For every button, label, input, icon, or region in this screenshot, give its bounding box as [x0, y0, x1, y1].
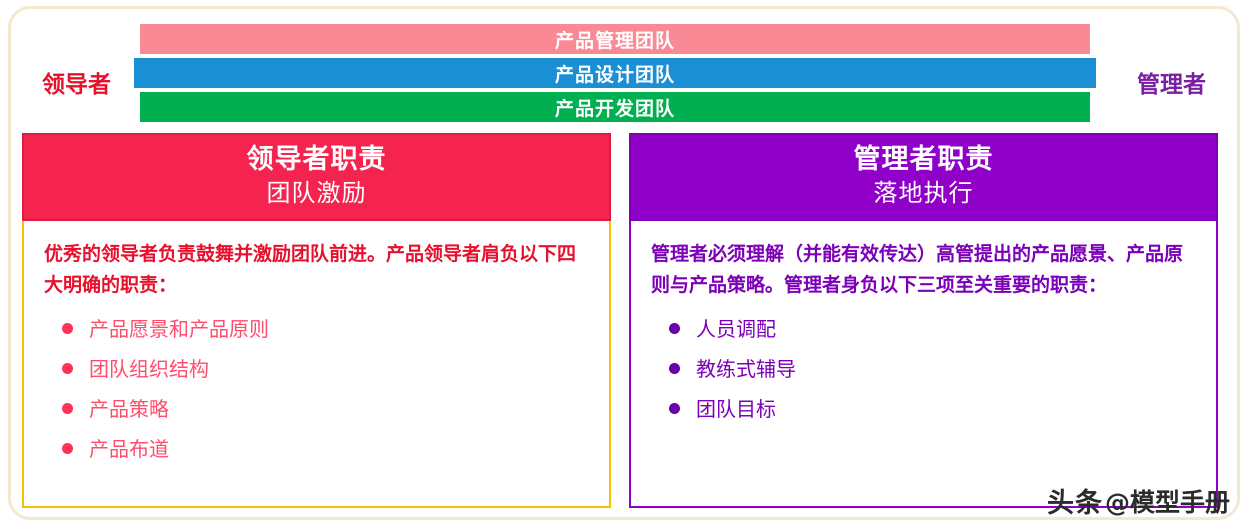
bullet-icon: [669, 403, 680, 414]
list-item-label: 人员调配: [696, 309, 776, 349]
leader-panel-header: 领导者职责 团队激励: [22, 133, 611, 221]
manager-role-label: 管理者: [1137, 73, 1206, 96]
leader-role-label: 领导者: [42, 73, 111, 96]
team-bar-product-management: 产品管理团队: [140, 24, 1090, 54]
bullet-icon: [669, 323, 680, 334]
teams-band: 领导者 管理者 产品管理团队 产品设计团队 产品开发团队: [22, 18, 1212, 130]
list-item: 团队组织结构: [44, 349, 589, 389]
manager-intro-text: 管理者必须理解（并能有效传达）高管提出的产品愿景、产品原则与产品策略。管理者身负…: [651, 239, 1196, 301]
watermark: 头条 @模型手册: [1047, 481, 1230, 520]
leader-panel-body: 优秀的领导者负责鼓舞并激励团队前进。产品领导者肩负以下四大明确的职责： 产品愿景…: [22, 221, 611, 508]
leader-item-list: 产品愿景和产品原则 团队组织结构 产品策略 产品布道: [44, 309, 589, 469]
list-item-label: 团队目标: [696, 389, 776, 429]
leader-responsibility-panel: 领导者职责 团队激励 优秀的领导者负责鼓舞并激励团队前进。产品领导者肩负以下四大…: [22, 133, 611, 508]
manager-panel-subtitle: 落地执行: [631, 177, 1216, 209]
leader-panel-title: 领导者职责: [24, 143, 609, 177]
list-item-label: 产品愿景和产品原则: [89, 309, 269, 349]
list-item: 产品愿景和产品原则: [44, 309, 589, 349]
team-bar-product-development: 产品开发团队: [140, 92, 1090, 122]
responsibility-panels: 领导者职责 团队激励 优秀的领导者负责鼓舞并激励团队前进。产品领导者肩负以下四大…: [22, 133, 1218, 508]
list-item: 团队目标: [651, 389, 1196, 429]
diagram-canvas: 领导者 管理者 产品管理团队 产品设计团队 产品开发团队 领导者职责 团队激励 …: [0, 0, 1248, 528]
bullet-icon: [669, 363, 680, 374]
leader-intro-text: 优秀的领导者负责鼓舞并激励团队前进。产品领导者肩负以下四大明确的职责：: [44, 239, 589, 301]
list-item-label: 团队组织结构: [89, 349, 209, 389]
list-item: 教练式辅导: [651, 349, 1196, 389]
bullet-icon: [62, 323, 73, 334]
list-item-label: 教练式辅导: [696, 349, 796, 389]
list-item: 人员调配: [651, 309, 1196, 349]
list-item: 产品策略: [44, 389, 589, 429]
leader-panel-subtitle: 团队激励: [24, 177, 609, 209]
bullet-icon: [62, 403, 73, 414]
list-item: 产品布道: [44, 429, 589, 469]
watermark-main-text: 头条: [1047, 481, 1103, 520]
list-item-label: 产品策略: [89, 389, 169, 429]
team-bars: 产品管理团队 产品设计团队 产品开发团队: [140, 24, 1090, 126]
manager-item-list: 人员调配 教练式辅导 团队目标: [651, 309, 1196, 429]
watermark-sub-text: @模型手册: [1105, 483, 1230, 519]
manager-responsibility-panel: 管理者职责 落地执行 管理者必须理解（并能有效传达）高管提出的产品愿景、产品原则…: [629, 133, 1218, 508]
team-bar-product-design: 产品设计团队: [134, 58, 1096, 88]
manager-panel-header: 管理者职责 落地执行: [629, 133, 1218, 221]
bullet-icon: [62, 363, 73, 374]
bullet-icon: [62, 443, 73, 454]
list-item-label: 产品布道: [89, 429, 169, 469]
manager-panel-body: 管理者必须理解（并能有效传达）高管提出的产品愿景、产品原则与产品策略。管理者身负…: [629, 221, 1218, 508]
manager-panel-title: 管理者职责: [631, 143, 1216, 177]
